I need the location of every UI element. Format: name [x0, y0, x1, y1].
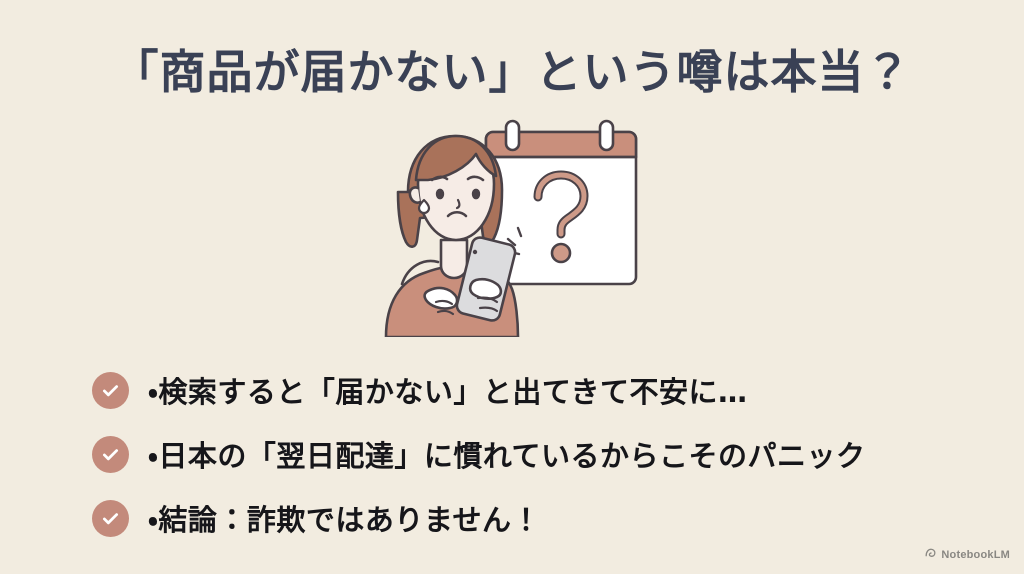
notebooklm-logo-icon	[924, 546, 937, 564]
bullet-text: ・検索すると「届かない」と出てきて不安に…	[148, 369, 748, 411]
bullet-text: ・結論：詐欺ではありません！	[148, 497, 541, 539]
list-item: ・検索すると「届かない」と出てきて不安に…	[92, 358, 972, 422]
illustration-worried-woman-calendar	[378, 112, 668, 337]
list-item: ・日本の「翌日配達」に慣れているからこそのパニック	[92, 422, 972, 486]
bullet-list: ・検索すると「届かない」と出てきて不安に… ・日本の「翌日配達」に慣れているから…	[92, 358, 972, 550]
check-circle-icon	[92, 436, 129, 473]
check-circle-icon	[92, 372, 129, 409]
check-circle-icon	[92, 500, 129, 537]
notebooklm-label: NotebookLM	[941, 549, 1010, 561]
bullet-text: ・日本の「翌日配達」に慣れているからこそのパニック	[148, 433, 866, 475]
list-item: ・結論：詐欺ではありません！	[92, 486, 972, 550]
notebooklm-watermark: NotebookLM	[924, 546, 1010, 564]
page-title: 「商品が届かない」という噂は本当？	[0, 36, 1024, 102]
slide-canvas: 「商品が届かない」という噂は本当？	[0, 0, 1024, 574]
